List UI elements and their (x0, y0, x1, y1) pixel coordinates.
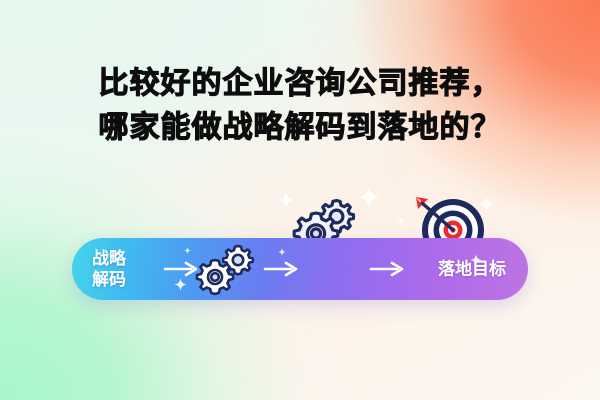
sparkle-icon (184, 247, 191, 254)
gears-icon (194, 242, 258, 298)
sparkle-icon (278, 248, 286, 256)
headline-line-2: 哪家能做战略解码到落地的？ (0, 106, 600, 150)
page-title: 比较好的企业咨询公司推荐， 哪家能做战略解码到落地的？ (0, 62, 600, 150)
arrow-right-icon (164, 261, 198, 277)
sparkle-icon (358, 186, 380, 208)
headline-line-1: 比较好的企业咨询公司推荐， (0, 62, 600, 106)
process-banner: 战略 解码 (72, 238, 528, 300)
poster-canvas: 比较好的企业咨询公司推荐， 哪家能做战略解码到落地的？ (0, 0, 600, 400)
banner-left-label: 战略 解码 (92, 248, 126, 290)
arrow-right-icon (264, 261, 298, 277)
sparkle-icon (396, 216, 406, 226)
banner-right-label: 落地目标 (438, 259, 506, 280)
arrow-right-icon (370, 261, 404, 277)
banner-right-label-line-1: 落地目标 (438, 259, 506, 280)
sparkle-icon (174, 278, 187, 291)
banner-left-label-line-2: 解码 (92, 269, 126, 290)
banner-left-label-line-1: 战略 (92, 248, 126, 269)
